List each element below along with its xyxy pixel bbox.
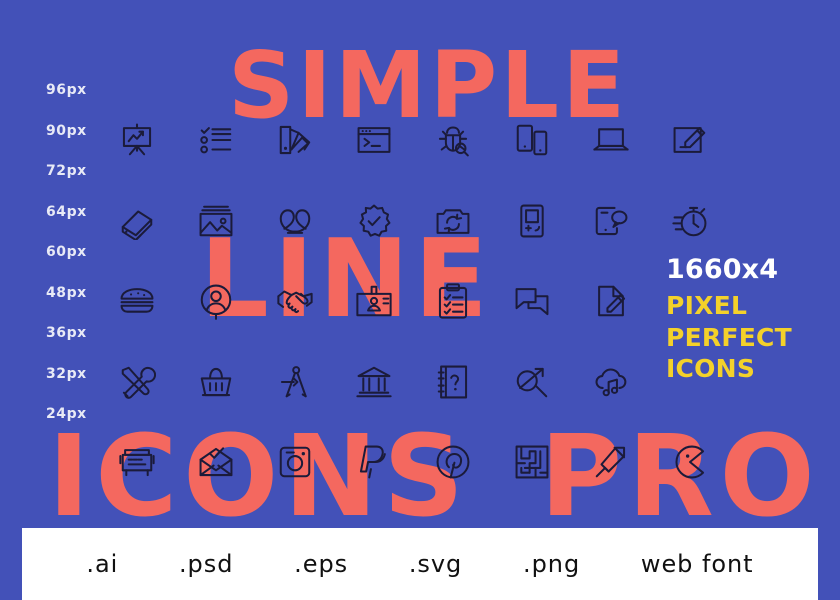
handheld-console-icon bbox=[513, 197, 592, 245]
presentation-chart-icon bbox=[118, 116, 197, 164]
format-eps: .eps bbox=[294, 550, 348, 578]
handshake-icon bbox=[276, 277, 355, 325]
size-legend-item-24: 24px bbox=[46, 394, 87, 435]
camera-rotate-icon bbox=[434, 197, 513, 245]
document-edit-icon bbox=[592, 277, 671, 325]
envelope-check-icon bbox=[197, 438, 276, 486]
size-legend-item-90: 90px bbox=[46, 111, 87, 152]
format-webfont: web font bbox=[641, 550, 754, 578]
instagram-icon bbox=[276, 438, 355, 486]
color-swatch-icon bbox=[276, 116, 355, 164]
pinterest-icon bbox=[434, 438, 513, 486]
icons-label: ICONS bbox=[666, 353, 792, 385]
format-png: .png bbox=[523, 550, 580, 578]
paypal-icon bbox=[355, 438, 434, 486]
chat-bubbles-icon bbox=[513, 277, 592, 325]
perfect-label: PERFECT bbox=[666, 322, 792, 354]
pretzel-icon bbox=[276, 197, 355, 245]
graphics-tablet-icon bbox=[671, 116, 750, 164]
mobile-devices-icon bbox=[513, 116, 592, 164]
user-circle-icon bbox=[197, 277, 276, 325]
question-notebook-icon bbox=[434, 358, 513, 406]
size-legend-item-32: 32px bbox=[46, 354, 87, 395]
checklist-icon bbox=[197, 116, 276, 164]
phone-chat-icon bbox=[592, 197, 671, 245]
format-svg: .svg bbox=[409, 550, 462, 578]
fast-stopwatch-icon bbox=[671, 197, 750, 245]
icon-row bbox=[118, 181, 750, 262]
clipboard-checklist-icon bbox=[434, 277, 513, 325]
icon-count-label: 1660x4 bbox=[666, 256, 792, 284]
image-gallery-icon bbox=[197, 197, 276, 245]
compass-divider-icon bbox=[276, 358, 355, 406]
format-psd: .psd bbox=[179, 550, 233, 578]
pacman-icon bbox=[671, 438, 750, 486]
poster-canvas: SIMPLE LINE ICONS PRO 96px 90px 72px 64p… bbox=[0, 0, 840, 600]
bank-icon bbox=[355, 358, 434, 406]
cloud-music-icon bbox=[592, 358, 671, 406]
icon-row bbox=[118, 342, 750, 423]
icon-row bbox=[118, 261, 750, 342]
jeep-icon bbox=[118, 438, 197, 486]
formats-bar: .ai .psd .eps .svg .png web font bbox=[22, 528, 818, 600]
icon-row bbox=[118, 100, 750, 181]
eraser-icon bbox=[118, 197, 197, 245]
size-legend: 96px 90px 72px 64px 60px 48px 36px 32px … bbox=[46, 70, 87, 435]
size-legend-item-64: 64px bbox=[46, 192, 87, 233]
size-legend-item-36: 36px bbox=[46, 313, 87, 354]
growth-arrow-icon bbox=[513, 358, 592, 406]
size-legend-item-72: 72px bbox=[46, 151, 87, 192]
shopping-basket-icon bbox=[197, 358, 276, 406]
maze-icon bbox=[513, 438, 592, 486]
rocket-arrow-icon bbox=[592, 438, 671, 486]
icon-row bbox=[118, 422, 750, 503]
terminal-window-icon bbox=[355, 116, 434, 164]
pixel-label: PIXEL bbox=[666, 290, 792, 322]
tools-icon bbox=[118, 358, 197, 406]
format-ai: .ai bbox=[86, 550, 118, 578]
verified-badge-icon bbox=[355, 197, 434, 245]
bug-search-icon bbox=[434, 116, 513, 164]
size-legend-item-96: 96px bbox=[46, 70, 87, 111]
id-badge-icon bbox=[355, 277, 434, 325]
info-block: 1660x4 PIXEL PERFECT ICONS bbox=[666, 256, 792, 385]
size-legend-item-48: 48px bbox=[46, 273, 87, 314]
size-legend-item-60: 60px bbox=[46, 232, 87, 273]
icon-grid bbox=[118, 100, 750, 503]
laptop-icon bbox=[592, 116, 671, 164]
burger-icon bbox=[118, 277, 197, 325]
